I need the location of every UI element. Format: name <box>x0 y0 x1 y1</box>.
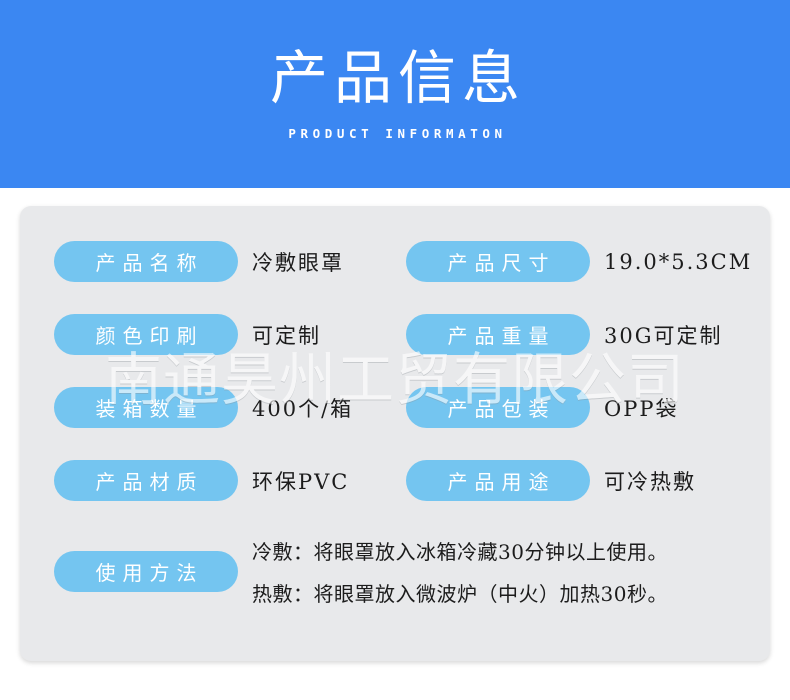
spec-cell-usage-purpose: 产品用途 可冷热敷 <box>406 460 758 501</box>
spec-label-material: 产品材质 <box>54 460 238 501</box>
spec-label-carton-quantity: 装箱数量 <box>54 387 238 428</box>
table-row: 产品名称 冷敷眼罩 产品尺寸 19.0*5.3CM <box>54 236 736 287</box>
product-spec-card: 南通昊州工贸有限公司 产品名称 冷敷眼罩 产品尺寸 19.0*5.3CM 颜色印… <box>20 206 770 661</box>
spec-value-color-printing: 可定制 <box>252 320 321 350</box>
page-title: 产品信息 <box>264 47 526 110</box>
spec-cell-product-size: 产品尺寸 19.0*5.3CM <box>406 241 758 282</box>
spec-card-container: 南通昊州工贸有限公司 产品名称 冷敷眼罩 产品尺寸 19.0*5.3CM 颜色印… <box>0 188 790 700</box>
usage-instruction-cold: 冷敷：将眼罩放入冰箱冷藏30分钟以上使用。 <box>252 536 668 565</box>
spec-cell-product-name: 产品名称 冷敷眼罩 <box>54 241 406 282</box>
spec-label-packaging: 产品包装 <box>406 387 590 428</box>
spec-label-product-size: 产品尺寸 <box>406 241 590 282</box>
spec-label-product-weight: 产品重量 <box>406 314 590 355</box>
spec-label-color-printing: 颜色印刷 <box>54 314 238 355</box>
spec-row-list: 产品名称 冷敷眼罩 产品尺寸 19.0*5.3CM 颜色印刷 可定制 产品重量 … <box>54 236 736 614</box>
spec-value-packaging: OPP袋 <box>604 393 678 423</box>
table-row: 装箱数量 400个/箱 产品包装 OPP袋 <box>54 382 736 433</box>
spec-cell-carton-quantity: 装箱数量 400个/箱 <box>54 387 406 428</box>
spec-value-product-name: 冷敷眼罩 <box>252 247 344 277</box>
spec-label-usage-method: 使用方法 <box>54 551 238 592</box>
spec-label-usage-purpose: 产品用途 <box>406 460 590 501</box>
spec-cell-material: 产品材质 环保PVC <box>54 460 406 501</box>
spec-cell-packaging: 产品包装 OPP袋 <box>406 387 758 428</box>
usage-instruction-hot: 热敷：将眼罩放入微波炉（中火）加热30秒。 <box>252 578 668 607</box>
page-subtitle: PRODUCT INFORMATON <box>283 126 506 141</box>
table-row-usage-method: 使用方法 冷敷：将眼罩放入冰箱冷藏30分钟以上使用。 热敷：将眼罩放入微波炉（中… <box>54 528 736 614</box>
spec-cell-product-weight: 产品重量 30G可定制 <box>406 314 758 355</box>
usage-instruction-list: 冷敷：将眼罩放入冰箱冷藏30分钟以上使用。 热敷：将眼罩放入微波炉（中火）加热3… <box>252 536 668 607</box>
spec-value-product-weight: 30G可定制 <box>604 320 723 350</box>
spec-cell-color-printing: 颜色印刷 可定制 <box>54 314 406 355</box>
page-header-banner: 产品信息 PRODUCT INFORMATON <box>0 0 790 188</box>
table-row: 产品材质 环保PVC 产品用途 可冷热敷 <box>54 455 736 506</box>
table-row: 颜色印刷 可定制 产品重量 30G可定制 <box>54 309 736 360</box>
spec-value-usage-purpose: 可冷热敷 <box>604 466 696 496</box>
spec-value-carton-quantity: 400个/箱 <box>252 393 353 423</box>
spec-label-product-name: 产品名称 <box>54 241 238 282</box>
spec-value-product-size: 19.0*5.3CM <box>604 250 752 274</box>
spec-value-material: 环保PVC <box>252 466 349 496</box>
